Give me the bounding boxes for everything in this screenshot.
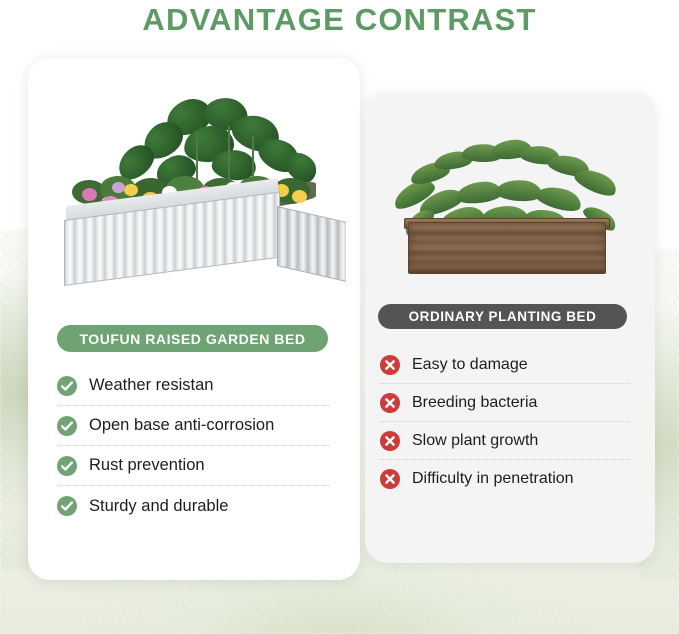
check-icon [57, 456, 77, 476]
right-feature-list: Easy to damage Breeding bacteria Slow pl… [380, 346, 630, 498]
cross-icon [380, 393, 400, 413]
left-product-image [46, 96, 346, 294]
right-badge-label: ORDINARY PLANTING BED [409, 309, 597, 324]
right-product-badge: ORDINARY PLANTING BED [378, 304, 627, 329]
right-product-image [378, 126, 636, 286]
cross-icon [380, 469, 400, 489]
check-icon [57, 376, 77, 396]
page-title: ADVANTAGE CONTRAST [0, 0, 679, 40]
list-item: Slow plant growth [380, 422, 630, 460]
list-item: Weather resistan [57, 366, 329, 406]
left-feature-list: Weather resistan Open base anti-corrosio… [57, 366, 329, 526]
list-item-label: Difficulty in penetration [412, 470, 574, 488]
left-badge-label: TOUFUN RAISED GARDEN BED [79, 331, 305, 347]
infographic-page: ADVANTAGE CONTRAST [0, 0, 679, 634]
check-icon [57, 416, 77, 436]
left-product-badge: TOUFUN RAISED GARDEN BED [57, 325, 328, 352]
list-item-label: Breeding bacteria [412, 394, 537, 412]
list-item: Breeding bacteria [380, 384, 630, 422]
list-item-label: Weather resistan [89, 376, 213, 395]
list-item-label: Rust prevention [89, 456, 205, 475]
list-item-label: Easy to damage [412, 356, 528, 374]
list-item-label: Open base anti-corrosion [89, 416, 274, 435]
list-item: Sturdy and durable [57, 486, 329, 526]
galvanized-bed-body [64, 204, 326, 286]
cross-icon [380, 355, 400, 375]
wooden-planter-box [408, 222, 606, 274]
cross-icon [380, 431, 400, 451]
list-item-label: Slow plant growth [412, 432, 538, 450]
list-item: Open base anti-corrosion [57, 406, 329, 446]
check-icon [57, 496, 77, 516]
list-item: Easy to damage [380, 346, 630, 384]
list-item: Rust prevention [57, 446, 329, 486]
list-item-label: Sturdy and durable [89, 497, 228, 516]
list-item: Difficulty in penetration [380, 460, 630, 498]
